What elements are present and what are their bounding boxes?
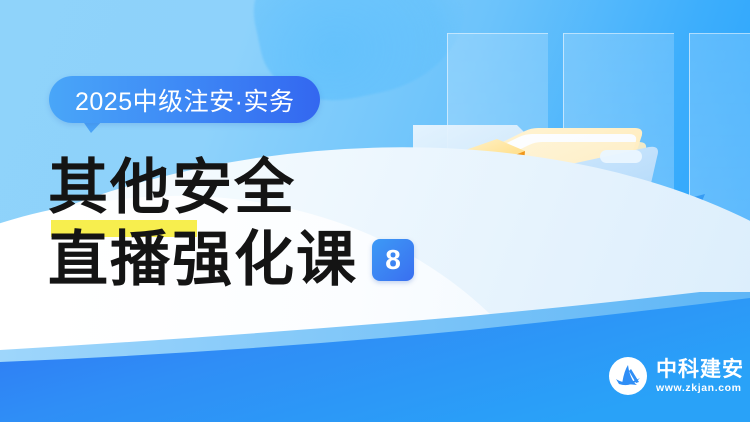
episode-number: 8 (385, 246, 401, 274)
brand-logo: 中科建安 www.zkjan.com (609, 357, 744, 395)
title-block: 其他安全 直播强化课 8 (48, 152, 468, 296)
course-promo-banner: 2025中级注安·实务 其他安全 直播强化课 8 中科建安 www.zkjan.… (0, 0, 750, 422)
brand-text-block: 中科建安 www.zkjan.com (656, 358, 744, 395)
brand-url: www.zkjan.com (656, 381, 744, 395)
episode-badge: 8 (372, 239, 414, 281)
title-line-1-row: 其他安全 (48, 152, 468, 224)
category-badge: 2025中级注安·实务 (49, 76, 320, 123)
title-line-2-row: 直播强化课 8 (48, 224, 468, 296)
category-badge-label: 2025中级注安·实务 (75, 82, 294, 118)
zkjan-circle-logo-icon (609, 357, 647, 395)
brand-name: 中科建安 (656, 358, 744, 381)
title-line-1: 其他安全 (48, 152, 468, 224)
title-line-2: 直播强化课 (48, 224, 358, 296)
